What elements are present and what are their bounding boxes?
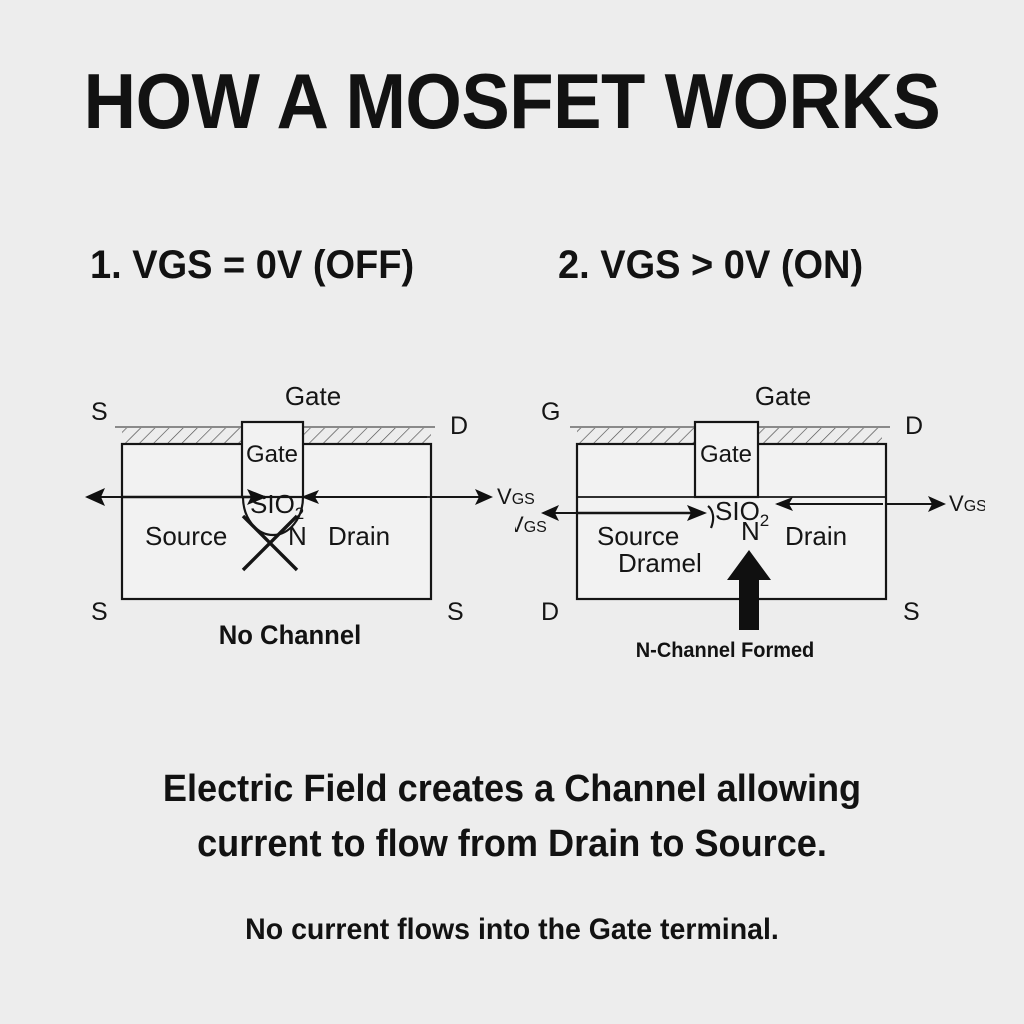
label-vgs-right: VGS	[949, 491, 985, 516]
label-gate-top: Gate	[755, 381, 811, 411]
label-source-second: Dramel	[618, 548, 702, 578]
step-label-on: 2. VGS > 0V (ON)	[558, 245, 863, 285]
label-gate-block: Gate	[246, 441, 298, 468]
label-vgs-left: VGS	[515, 512, 547, 537]
label-source: Source	[145, 521, 227, 551]
footnote-text: No current flows into the Gate terminal.	[85, 912, 940, 948]
caption-no-channel: No Channel	[129, 622, 452, 649]
infographic-page: HOW A MOSFET WORKS 1. VGS = 0V (OFF) 2. …	[0, 0, 1024, 1024]
label-corner-bottom-left: S	[91, 598, 108, 626]
label-corner-top-right: D	[905, 412, 923, 440]
label-gate-block: Gate	[700, 441, 752, 468]
oxide-hatch-right	[303, 428, 431, 444]
label-corner-bottom-left: D	[541, 598, 559, 626]
oxide-hatch-right	[758, 428, 882, 444]
label-gate-top: Gate	[285, 381, 341, 411]
label-channel-n: N	[288, 521, 307, 551]
summary-text: Electric Field creates a Channel allowin…	[85, 762, 940, 872]
caption-n-channel-formed: N-Channel Formed	[554, 640, 896, 661]
label-corner-top-right: D	[450, 412, 468, 440]
label-corner-top-left: S	[91, 398, 108, 426]
diagram-mosfet-on: G D D S Gate Gate SIO2 VGS	[515, 380, 985, 670]
label-channel-n: N	[741, 516, 760, 546]
label-corner-bottom-right: S	[903, 598, 920, 626]
label-source: Source	[597, 521, 679, 551]
summary-line-1: Electric Field creates a Channel allowin…	[85, 762, 940, 817]
page-title: HOW A MOSFET WORKS	[36, 62, 988, 140]
label-corner-top-left: G	[541, 398, 560, 426]
oxide-hatch-left	[122, 428, 242, 444]
step-label-off: 1. VGS = 0V (OFF)	[90, 245, 414, 285]
label-drain: Drain	[328, 521, 390, 551]
oxide-hatch-left	[577, 428, 695, 444]
summary-line-2: current to flow from Drain to Source.	[85, 817, 940, 872]
label-drain: Drain	[785, 521, 847, 551]
